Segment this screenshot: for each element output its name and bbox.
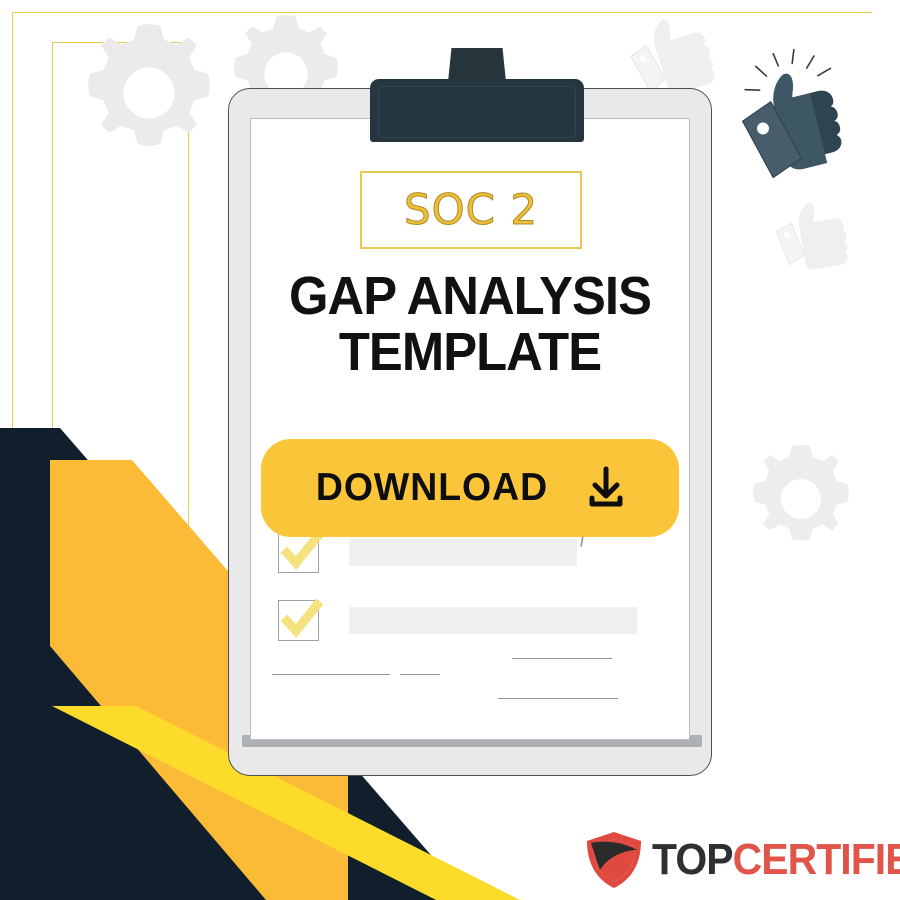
page-title: GAP ANALYSIS TEMPLATE <box>263 268 677 380</box>
checkbox-checked[interactable] <box>278 600 319 641</box>
clipboard-clip-tab <box>448 48 506 82</box>
clipboard-clip-inner-edge <box>378 86 576 138</box>
check-icon <box>275 595 325 645</box>
gear-icon <box>742 440 860 558</box>
checkbox-checked[interactable] <box>278 532 319 573</box>
form-line <box>272 674 390 675</box>
standard-badge: SOC 2 <box>360 171 582 249</box>
document-content: SOC 2 GAP ANALYSIS TEMPLATE <box>250 118 690 740</box>
brand-logo-text-part2: CERTIFIER <box>733 835 900 884</box>
thumbs-up-icon <box>768 192 855 276</box>
corner-frame-inner <box>52 42 189 900</box>
download-arrow-icon <box>583 465 629 511</box>
page-title-line-2: TEMPLATE <box>263 324 677 380</box>
standard-badge-label: SOC 2 <box>404 189 538 231</box>
shield-check-icon <box>585 830 643 890</box>
corner-frame-top-line <box>12 12 872 13</box>
poster-canvas: SOC 2 GAP ANALYSIS TEMPLATE <box>0 0 900 900</box>
gear-icon <box>74 18 224 168</box>
form-line <box>512 658 612 659</box>
form-line <box>400 674 440 675</box>
thumbs-up-icon <box>718 34 873 189</box>
download-button[interactable]: DOWNLOAD <box>261 439 679 537</box>
page-title-line-1: GAP ANALYSIS <box>289 266 651 326</box>
placeholder-bar <box>349 607 637 634</box>
list-item <box>278 600 637 641</box>
download-button-label: DOWNLOAD <box>316 466 548 510</box>
corner-frame-outer <box>12 12 163 702</box>
brand-logo-text-part1: TOP <box>652 835 733 884</box>
brand-logo[interactable]: TOPCERTIFIER <box>585 830 900 890</box>
form-line <box>498 698 618 699</box>
brand-logo-text: TOPCERTIFIER <box>652 838 900 882</box>
